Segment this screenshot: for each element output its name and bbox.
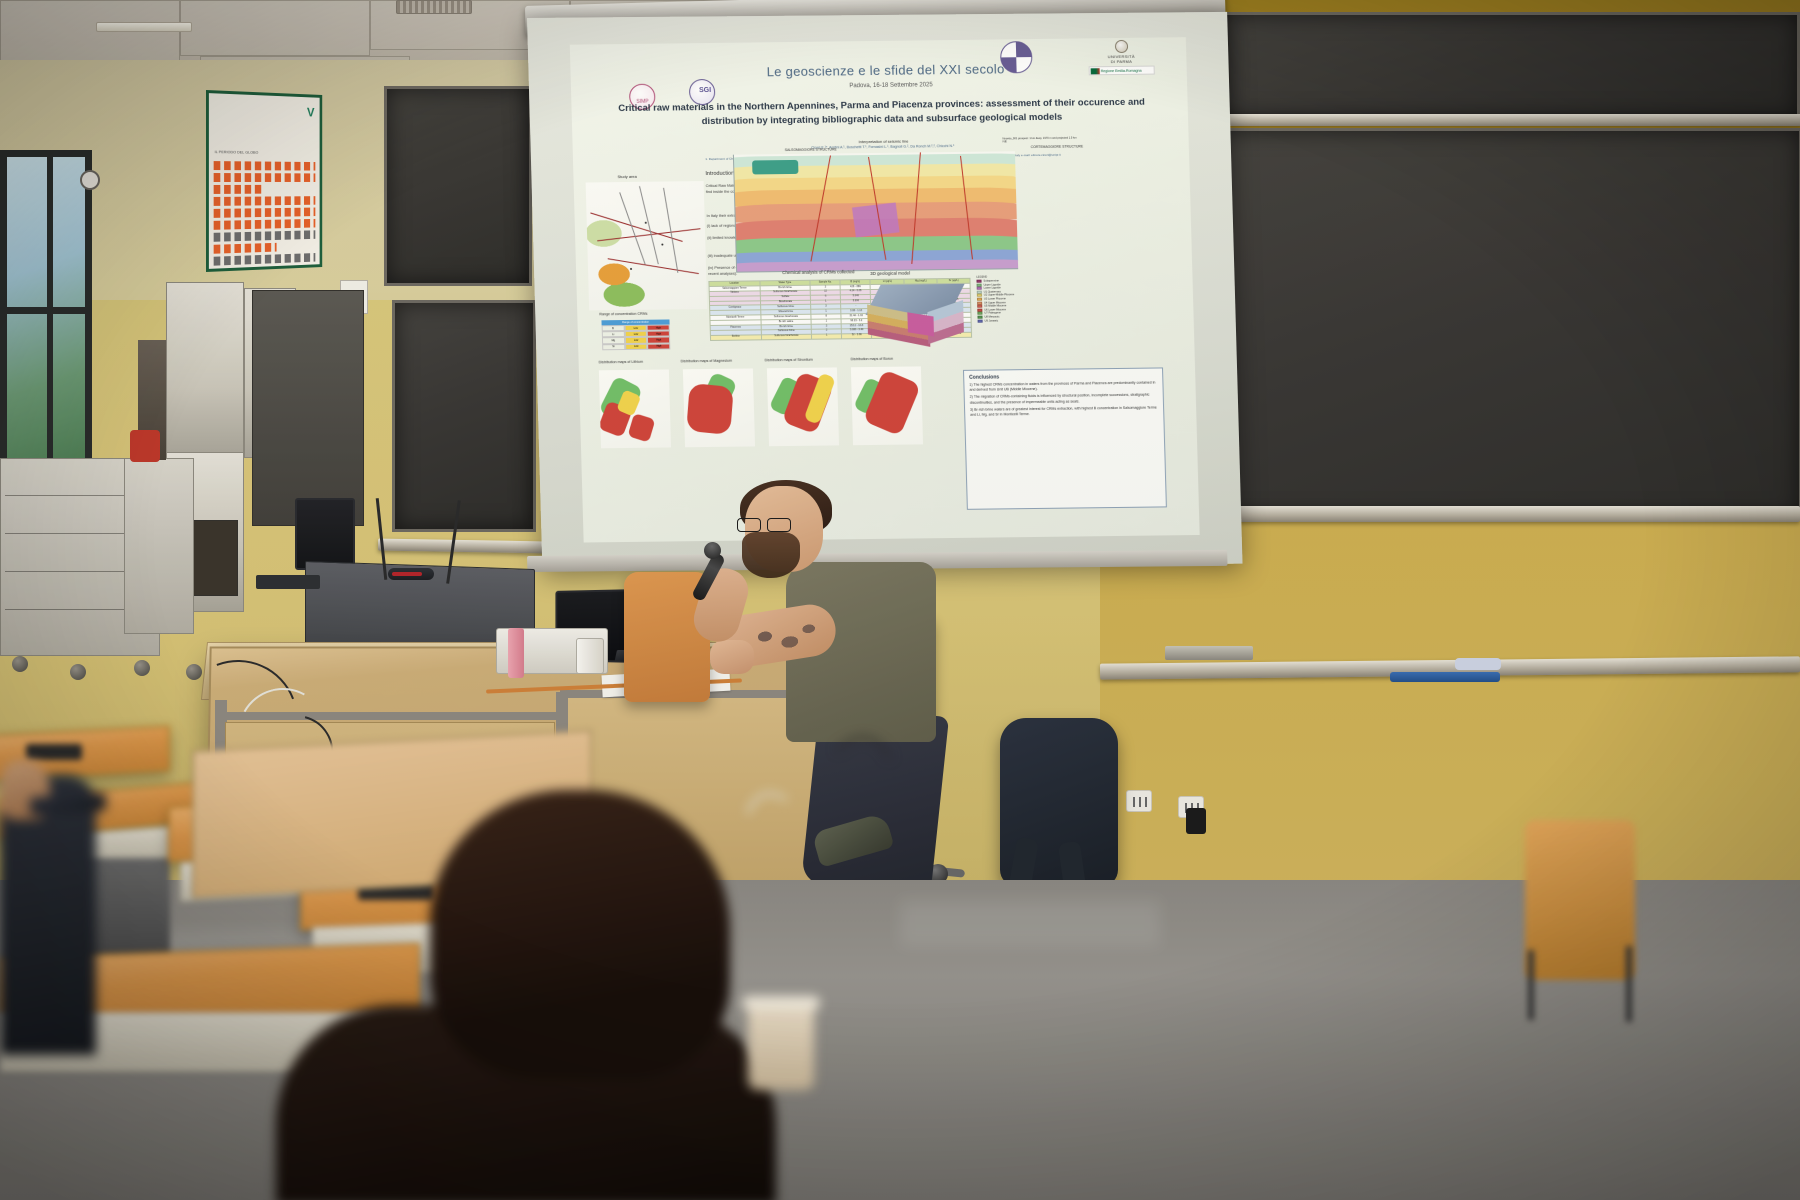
study-area-label: Study area — [617, 174, 636, 179]
cortemaggiore-structure-label: CORTEMAGGIORE STRUCTURE — [1031, 144, 1083, 149]
table-cell: 1 — [812, 333, 842, 338]
student-center-hair — [430, 790, 730, 1080]
salsomaggiore-structure-label: SALSOMAGGIORE STRUCTURE — [785, 147, 837, 152]
chalkboard-right-main — [1212, 128, 1800, 520]
presenter-beard — [742, 532, 800, 578]
table-heading: Chemical analysis of CRMs collected — [782, 269, 854, 275]
seismic-axis-ne: NE — [1003, 139, 1007, 143]
caster-wheel — [134, 660, 150, 676]
backpack — [1000, 718, 1118, 886]
distribution-map-lithium — [599, 369, 671, 448]
distribution-map-boron — [851, 366, 923, 445]
storage-cabinet-dark — [252, 290, 364, 526]
wall-clock — [80, 170, 100, 190]
ceiling-tile — [0, 0, 180, 64]
glasses-icon — [737, 518, 797, 533]
range-cell: High — [647, 343, 670, 349]
seismic-cross-section — [733, 151, 1018, 272]
student-chair-right — [1525, 820, 1635, 980]
range-cell: Low — [625, 343, 648, 349]
red-container — [130, 430, 160, 462]
map-label-strontium: Distribution maps of Strontium — [765, 358, 813, 363]
conclusions-heading: Conclusions — [969, 373, 1157, 381]
wall-outlet — [1126, 790, 1152, 812]
metal-tray — [1165, 646, 1253, 660]
study-area-map — [586, 181, 708, 310]
unipr-logo: UNIVERSITÀ DI PARMA — [1090, 40, 1153, 69]
paper-cup — [748, 1000, 814, 1090]
range-of-concentration-box: Range of concentration BLowHighLiLowHigh… — [601, 319, 670, 350]
keyboard — [256, 575, 320, 589]
legend-label: U9 Jurassic — [985, 319, 999, 322]
map-label-lithium: Distribution maps of Lithium — [599, 360, 643, 365]
table-cell: Sulfurous bicarbonate — [761, 334, 812, 339]
geological-legend: LEGEND SubapennineUpper LigurideLower Li… — [976, 275, 1035, 323]
conclusion-1: 1) The highest CRMs concentration in wat… — [969, 381, 1157, 394]
paper-cup-rim — [742, 996, 820, 1010]
legend-swatch — [977, 301, 982, 304]
caster-wheel — [70, 664, 86, 680]
region-logo-text: Regione Emilia-Romagna — [1101, 68, 1142, 72]
legend-swatch — [977, 308, 982, 311]
map-label-boron: Distribution maps of Boron — [851, 357, 893, 362]
caster-wheel — [12, 656, 28, 672]
map-label-magnesium: Distribution maps of Magnesium — [681, 359, 732, 364]
mouse-device — [388, 568, 434, 580]
seismic-note: Nocetto_001 prospect: 1 km deep, 1970 m … — [1003, 136, 1153, 141]
poster-title: IL PERIODO DEL GLOBO — [215, 149, 259, 155]
chalk-rail-right-main — [1200, 506, 1800, 522]
presenter-hand — [710, 640, 754, 674]
plug-adapter — [1186, 808, 1206, 834]
range-row: SrLowHigh — [602, 343, 670, 350]
ceiling-tile — [180, 0, 370, 56]
ceiling-light-fixture — [96, 22, 192, 32]
blue-object-on-rail — [1390, 672, 1500, 682]
conference-emblem — [1000, 41, 1033, 73]
conference-place-date: Padova, 16-18 Settembre 2025 — [741, 81, 1041, 91]
chalk-rail-right-upper — [1212, 114, 1800, 126]
range-cell: Sr — [602, 344, 625, 350]
introduction-heading: Introduction — [705, 171, 734, 177]
sgi-logo-text: SGI — [699, 87, 711, 94]
conclusion-2: 2) The migration of CRMs-containing flui… — [970, 393, 1158, 406]
range-heading: Range of concentration CRMs — [599, 312, 647, 317]
conclusion-3: 3) Br-rich brine waters are of greatest … — [970, 405, 1158, 418]
cart-unit — [124, 458, 194, 634]
chalkboard-right-upper — [1222, 12, 1800, 120]
bench-grip — [26, 744, 82, 760]
chair-leg — [1626, 946, 1632, 1022]
seismic-heading: Interpretation of seismic line — [859, 139, 909, 145]
chalkboard-left-upper — [384, 86, 532, 286]
chalkboard-left-lower — [392, 300, 536, 532]
document-camera-lens — [576, 638, 604, 674]
water-bottle — [508, 628, 524, 678]
region-flag-icon — [1091, 68, 1100, 74]
lecture-hall-photo: IL PERIODO DEL GLOBO V Le geoscienze e l… — [0, 0, 1800, 1200]
floor-reflection — [900, 900, 1160, 946]
chair-leg — [1528, 950, 1534, 1020]
presentation-slide: Le geoscienze e le sfide del XXI secolo … — [570, 37, 1200, 542]
unipr-line2: DI PARMA — [1090, 59, 1152, 65]
slide-main-title: Critical raw materials in the Northern A… — [611, 96, 1152, 130]
distribution-map-strontium — [767, 367, 839, 446]
marker-on-rail — [1455, 658, 1501, 670]
legend-swatch — [977, 305, 982, 308]
model3d-heading: 3D geological model — [870, 271, 910, 276]
poster-logo: V — [307, 105, 315, 120]
ceiling-vent — [396, 0, 472, 14]
distribution-map-magnesium — [683, 368, 755, 447]
conclusions-box: Conclusions 1) The highest CRMs concentr… — [963, 367, 1167, 509]
legend-swatch — [978, 319, 983, 322]
table-cell: Bobbio — [710, 334, 761, 339]
storage-cabinet-upper — [166, 282, 244, 458]
wall-poster: IL PERIODO DEL GLOBO V — [206, 90, 322, 272]
legend-row: U9 Jurassic — [978, 319, 1036, 323]
geological-3d-model — [866, 280, 966, 351]
window — [0, 150, 92, 480]
region-logo: Regione Emilia-Romagna — [1089, 66, 1155, 76]
computer-monitor — [295, 498, 355, 570]
